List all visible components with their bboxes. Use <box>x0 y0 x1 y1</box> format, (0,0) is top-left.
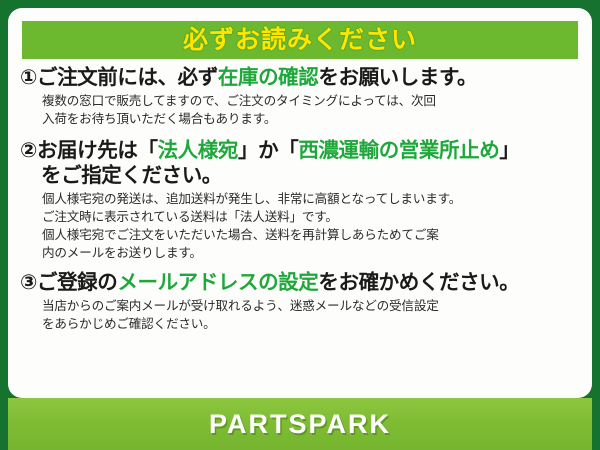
notice-item-2-emphasis-1: 法人様宛 <box>158 139 238 162</box>
notice-item-2-description: 個人様宅宛の発送は、追加送料が発生し、非常に高額となってしまいます。 ご注文時に… <box>20 190 580 263</box>
notice-item-2-quote-close-2: 」 <box>499 139 519 162</box>
notice-item-2-emphasis-2: 西濃運輸の営業所止め <box>298 139 499 162</box>
notice-item-2-description-line: 内のメールをお送りします。 <box>42 244 580 262</box>
notice-item-3-description-line: をあらかじめご確認ください。 <box>42 315 580 333</box>
notice-item-1-heading: ①ご注文前には、必ず在庫の確認をお願いします。 <box>20 65 580 90</box>
banner-title: 必ずお読みください <box>183 28 417 53</box>
notice-item-3-heading: ③ご登録のメールアドレスの設定をお確かめください。 <box>20 270 580 295</box>
notice-item-2-quote-open-2: 「 <box>278 139 298 162</box>
content-panel: 必ずお読みください ①ご注文前には、必ず在庫の確認をお願いします。 複数の窓口で… <box>8 8 592 398</box>
notice-item-2-text-before: お届け先は <box>37 139 138 162</box>
notice-item-3-description-line: 当店からのご案内メールが受け取れるよう、迷惑メールなどの受信設定 <box>42 297 580 315</box>
notice-item-3: ③ご登録のメールアドレスの設定をお確かめください。 当店からのご案内メールが受け… <box>20 270 580 334</box>
notice-item-2-heading-line2: をご指定ください。 <box>20 163 580 188</box>
notice-body: ①ご注文前には、必ず在庫の確認をお願いします。 複数の窓口で販売してますので、ご… <box>8 59 592 333</box>
notice-item-3-text-after: をお確かめください。 <box>318 271 519 294</box>
notice-item-1-description-line: 複数の窓口で販売してますので、ご注文のタイミングによっては、次回 <box>42 92 580 110</box>
brand-name: PARTSPARK <box>209 409 391 440</box>
notice-item-2-description-line: 個人様宅宛でご注文をいただいた場合、送料を再計算しあらためてご案 <box>42 226 580 244</box>
notice-item-1-description-line: 入荷をお待ち頂いただく場合もあります。 <box>42 110 580 128</box>
notice-item-2-heading: ②お届け先は「法人様宛」か「西濃運輸の営業所止め」をご指定ください。 <box>20 138 580 188</box>
notice-item-2-quote-open-1: 「 <box>137 139 157 162</box>
notice-item-1-description: 複数の窓口で販売してますので、ご注文のタイミングによっては、次回 入荷をお待ち頂… <box>20 92 580 129</box>
notice-item-3-description: 当店からのご案内メールが受け取れるよう、迷惑メールなどの受信設定 をあらかじめご… <box>20 297 580 334</box>
notice-item-2: ②お届け先は「法人様宛」か「西濃運輸の営業所止め」をご指定ください。 個人様宅宛… <box>20 138 580 263</box>
notice-item-2-quote-close-1: 」 <box>238 139 258 162</box>
notice-item-1-marker: ① <box>20 66 37 89</box>
title-banner: 必ずお読みください <box>22 21 578 59</box>
notice-item-3-emphasis: メールアドレスの設定 <box>117 271 318 294</box>
notice-card: 必ずお読みください ①ご注文前には、必ず在庫の確認をお願いします。 複数の窓口で… <box>0 0 600 450</box>
footer-brand-bar: PARTSPARK <box>8 398 592 450</box>
notice-item-1-text-after: をお願いします。 <box>318 66 477 89</box>
notice-item-2-description-line: ご注文時に表示されている送料は「法人送料」です。 <box>42 208 580 226</box>
notice-item-1-text-before: ご注文前には、必ず <box>37 66 218 89</box>
notice-item-3-text-before: ご登録の <box>37 271 117 294</box>
notice-item-3-marker: ③ <box>20 271 37 294</box>
notice-item-2-description-line: 個人様宅宛の発送は、追加送料が発生し、非常に高額となってしまいます。 <box>42 190 580 208</box>
notice-item-1: ①ご注文前には、必ず在庫の確認をお願いします。 複数の窓口で販売してますので、ご… <box>20 65 580 129</box>
notice-item-2-marker: ② <box>20 139 37 162</box>
notice-item-2-text-middle: か <box>258 139 278 162</box>
notice-item-1-emphasis: 在庫の確認 <box>218 66 319 89</box>
